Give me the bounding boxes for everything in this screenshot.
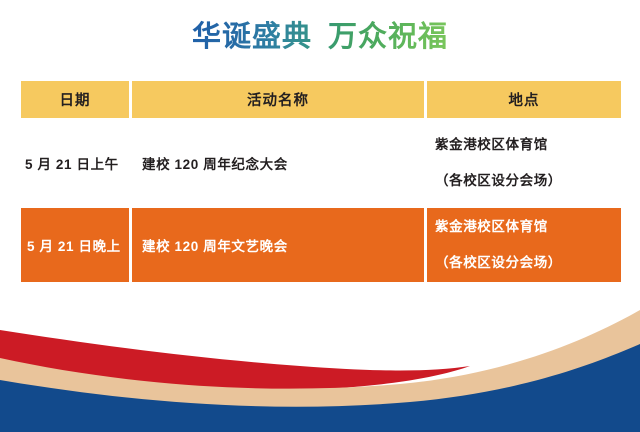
cell-date: 5 月 21 日上午 [21,121,129,205]
cell-place-line-2: （各校区设分会场） [435,256,621,270]
page-title-part-1: 华诞盛典 [192,21,312,53]
schedule-table-head: 日期 活动名称 地点 [21,81,621,118]
page-title-part-2: 万众祝福 [328,21,448,53]
cell-date: 5 月 21 日晚上 [21,208,129,282]
schedule-table-body: 5 月 21 日上午 建校 120 周年纪念大会 紫金港校区体育馆 （各校区设分… [21,121,621,282]
bottom-ribbon-waves [0,292,640,432]
table-header-row: 日期 活动名称 地点 [21,81,621,118]
blue-band-shape [0,344,640,432]
cell-place: 紫金港校区体育馆 （各校区设分会场） [427,208,621,282]
tan-band-shape [0,310,640,408]
cell-place-line-1: 紫金港校区体育馆 [435,138,621,152]
schedule-table: 日期 活动名称 地点 5 月 21 日上午 建校 120 周年纪念大会 紫金港校… [18,78,624,285]
column-header-date: 日期 [21,81,129,118]
table-row: 5 月 21 日晚上 建校 120 周年文艺晚会 紫金港校区体育馆 （各校区设分… [21,208,621,282]
column-header-place: 地点 [427,81,621,118]
table-row: 5 月 21 日上午 建校 120 周年纪念大会 紫金港校区体育馆 （各校区设分… [21,121,621,205]
ribbon-waves-svg [0,292,640,432]
cell-event: 建校 120 周年纪念大会 [132,121,424,205]
cell-event: 建校 120 周年文艺晚会 [132,208,424,282]
cell-place-line-2: （各校区设分会场） [435,174,621,188]
poster-canvas: 华诞盛典万众祝福 日期 活动名称 地点 5 月 21 日上午 建校 120 周年… [0,0,640,432]
page-title: 华诞盛典万众祝福 [192,13,448,55]
cell-place: 紫金港校区体育馆 （各校区设分会场） [427,121,621,205]
title-container: 华诞盛典万众祝福 [0,12,640,56]
red-band-shape [0,330,470,390]
column-header-event: 活动名称 [132,81,424,118]
cell-place-line-1: 紫金港校区体育馆 [435,220,621,234]
